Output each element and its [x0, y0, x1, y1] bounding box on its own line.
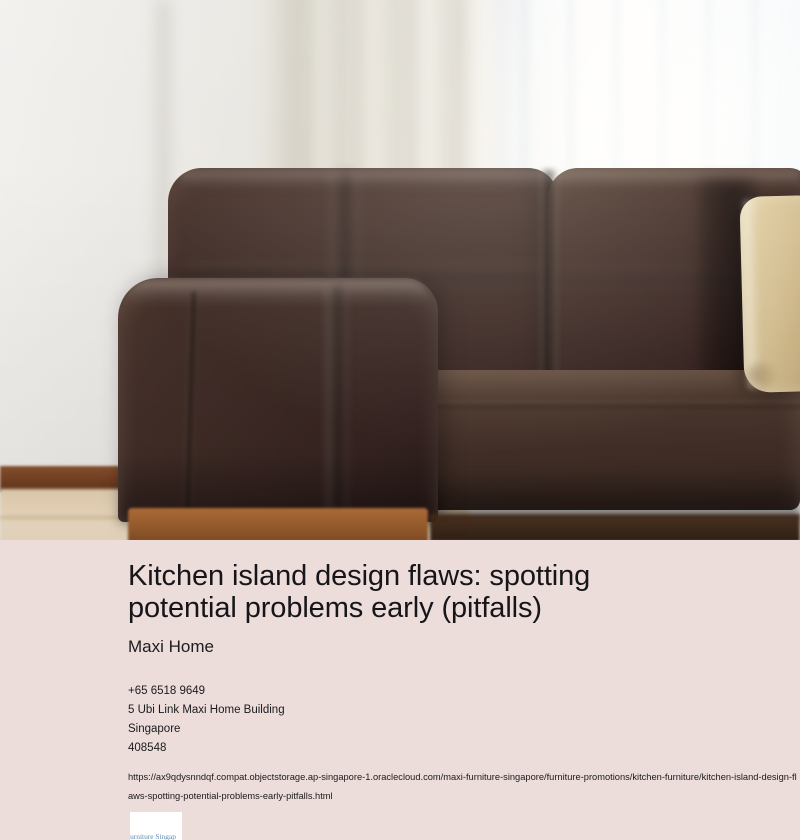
page-title: Kitchen island design flaws: spotting po… — [128, 540, 688, 625]
seat-seam — [420, 402, 800, 410]
contact-city: Singapore — [128, 720, 800, 739]
hero-image — [0, 0, 800, 540]
page-root: Kitchen island design flaws: spotting po… — [0, 0, 800, 840]
contact-address: 5 Ubi Link Maxi Home Building — [128, 701, 800, 720]
thumbnail-card-label: Furniture Singap — [130, 832, 182, 840]
room-scene — [0, 0, 800, 540]
armrest-top-highlight — [124, 280, 430, 306]
contact-postal-code: 408548 — [128, 739, 800, 758]
brand-name: Maxi Home — [128, 625, 800, 657]
sofa-wooden-base — [128, 508, 428, 540]
info-panel: Kitchen island design flaws: spotting po… — [0, 540, 800, 840]
seat-front-shadow — [380, 470, 800, 520]
cushion-corner-shadow — [744, 362, 778, 396]
source-url[interactable]: https://ax9qdysnndqf.compat.objectstorag… — [128, 758, 800, 806]
sofa-base-shadow — [430, 514, 800, 540]
contact-details: +65 6518 9649 5 Ubi Link Maxi Home Build… — [128, 657, 800, 758]
info-panel-content: Kitchen island design flaws: spotting po… — [128, 540, 800, 806]
leather-sofa — [0, 0, 800, 540]
contact-phone: +65 6518 9649 — [128, 682, 800, 701]
thumbnail-card[interactable]: Furniture Singap — [130, 812, 182, 840]
